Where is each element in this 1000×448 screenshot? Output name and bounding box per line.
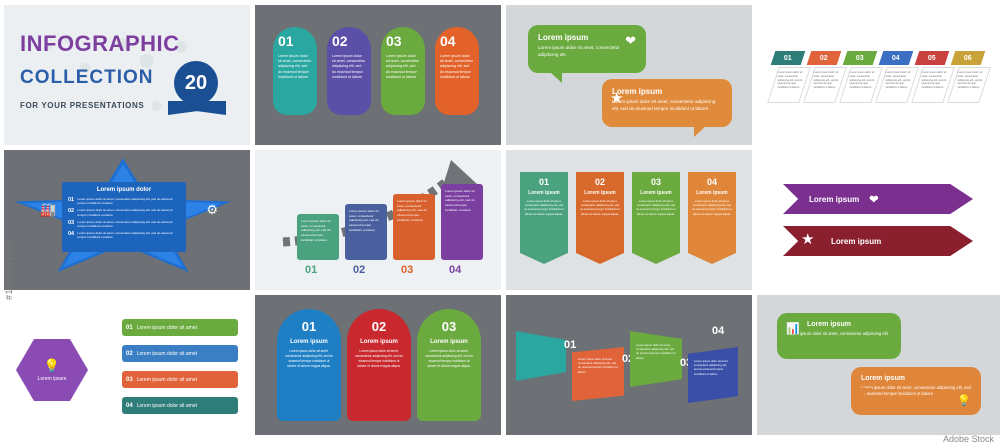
panel-tall-pills[interactable]: 01 Lorem ipsum Lorem ipsum dolor sit ame… [255,295,501,435]
zigzag-step-1[interactable] [516,331,566,381]
panel-ribbons[interactable]: Lorem ipsum ❤ Lorem ipsum ★ [757,150,1000,290]
adobe-stock-label: Adobe Stock [943,434,994,444]
panel-banners[interactable]: 01 Lorem ipsum Lorem ipsum dolor sit ame… [506,150,752,290]
pill-text: Lorem ipsum dolor sit amet, consectetur … [332,54,366,80]
factory-icon: 🏭 [40,202,56,218]
panel-zigzag[interactable]: 01 Lorem ipsum dolor sit amet, consectet… [506,295,752,435]
arrow-number-1: 01 [305,264,317,276]
panel-pills[interactable]: 01 Lorem ipsum dolor sit amet, consectet… [255,5,501,145]
tag-text: Lorem ipsum dolor sit amet, consectetur … [884,68,914,93]
hex-bar-label: Lorem ipsum dolor sit amet [137,403,197,409]
star-list-box: Lorem ipsum dolor 01Lorem ipsum dolor si… [62,182,186,252]
hexagon-label: Lorem ipsum [38,376,67,382]
hex-bar-number: 02 [126,351,133,357]
star-row-text: Lorem ipsum dolor sit amet, consectetur … [77,231,180,239]
cover-subtitle: COLLECTION [20,67,154,89]
zigzag-number-4: 04 [712,325,724,337]
tag-text: Lorem ipsum dolor sit amet, consectetur … [956,68,986,93]
bubble-tail [550,72,562,83]
hex-bar-label: Lorem ipsum dolor sit amet [137,351,197,357]
hex-bar-2[interactable]: 02Lorem ipsum dolor sit amet [122,345,238,362]
zigzag-text: Lorem ipsum dolor sit amet, consectetur … [630,331,682,372]
arrow-card-text: Lorem ipsum dolor sit amet, consectetur … [301,219,331,242]
cover-count-badge: 20 [174,61,218,105]
star-row-text: Lorem ipsum dolor sit amet, consectetur … [77,208,180,216]
star-row-text: Lorem ipsum dolor sit amet, consectetur … [77,197,180,205]
tag-number: 02 [820,55,828,62]
hexagon-shape[interactable]: 💡 Lorem ipsum [16,339,88,401]
cover-title: INFOGRAPHIC [20,31,180,57]
star-title: Lorem ipsum dolor [68,187,180,193]
arrow-card-text: Lorem ipsum dolor sit amet, consectetur … [445,189,475,212]
zigzag-step-4[interactable]: Lorem ipsum dolor sit amet, consectetur … [688,347,738,403]
panel-arrow[interactable]: Lorem ipsum dolor sit amet, consectetur … [255,150,501,290]
pill-number: 01 [278,33,312,49]
tag-text: Lorem ipsum dolor sit amet, consectetur … [848,68,878,93]
bubble-title: Lorem ipsum [612,87,722,96]
tag-header-4[interactable]: 04 [879,51,914,65]
zigzag-step-2[interactable]: Lorem ipsum dolor sit amet, consectetur … [572,347,624,401]
pill-text: Lorem ipsum dolor sit amet, consectetur … [386,54,420,80]
star-row-number: 01 [68,197,77,203]
tall-card-title: Lorem ipsum [284,339,334,345]
banner-item-4[interactable]: 04 Lorem ipsum Lorem ipsum dolor sit ame… [688,172,736,264]
heart-icon: ❤ [625,33,636,49]
tall-card-number: 01 [284,319,334,334]
hex-bar-number: 03 [126,377,133,383]
tag-text: Lorem ipsum dolor sit amet, consectetur … [920,68,950,93]
star-row-number: 02 [68,208,77,214]
star-row-number: 03 [68,220,77,226]
pill-item-2[interactable]: 02 Lorem ipsum dolor sit amet, consectet… [327,27,371,115]
zigzag-text: Lorem ipsum dolor sit amet, consectetur … [572,347,624,384]
panel-bubbles[interactable]: Lorem ipsum Lorem ipsum dolor sit amet, … [506,5,752,145]
arrow-card-1[interactable]: Lorem ipsum dolor sit amet, consectetur … [297,214,339,260]
ribbon-item-1[interactable]: Lorem ipsum ❤ [783,184,973,214]
bubble-title: Lorem ipsum [538,33,636,42]
banner-number: 01 [524,177,564,187]
bubble2-item-1[interactable]: 📊 Lorem ipsum Lorem ipsum dolor sit amet… [777,313,901,359]
panel-tags[interactable]: 01 Lorem ipsum dolor sit amet, consectet… [757,5,1000,145]
tag-text: Lorem ipsum dolor sit amet, consectetur … [776,68,806,93]
arrow-card-text: Lorem ipsum dolor sit amet, consectetur … [349,209,379,232]
arrow-number-4: 04 [449,264,461,276]
zigzag-step-3[interactable]: Lorem ipsum dolor sit amet, consectetur … [630,331,682,387]
lightbulb-icon: 💡 [44,358,60,374]
star-row[interactable]: 04Lorem ipsum dolor sit amet, consectetu… [68,231,180,239]
panel-cover[interactable]: INFOGRAPHIC COLLECTION FOR YOUR PRESENTA… [4,5,250,145]
arrow-card-3[interactable]: Lorem ipsum dolor sit amet, consectetur … [393,194,435,260]
tag-header-1[interactable]: 01 [771,51,806,65]
star-row-text: Lorem ipsum dolor sit amet, consectetur … [77,220,180,228]
bubble2-text: Lorem ipsum dolor sit amet, consectetur … [787,331,891,337]
tall-card-3[interactable]: 03 Lorem ipsum Lorem ipsum dolor sit ame… [417,309,481,421]
pill-item-1[interactable]: 01 Lorem ipsum dolor sit amet, consectet… [273,27,317,115]
hex-bar-3[interactable]: 03Lorem ipsum dolor sit amet [122,371,238,388]
banner-title: Lorem ipsum [636,190,676,196]
arrow-card-2[interactable]: Lorem ipsum dolor sit amet, consectetur … [345,204,387,260]
heart-icon: ❤ [869,193,878,206]
banner-item-1[interactable]: 01 Lorem ipsum Lorem ipsum dolor sit ame… [520,172,568,264]
zigzag-text: Lorem ipsum dolor sit amet, consectetur … [688,347,738,388]
tag-number: 03 [856,55,864,62]
lightbulb-icon: 💡 [957,394,971,407]
arrow-number-2: 02 [353,264,365,276]
watermark-id: #1109053596 [4,240,14,300]
banner-title: Lorem ipsum [692,190,732,196]
bubble2-title: Lorem ipsum [787,321,891,328]
pill-item-3[interactable]: 03 Lorem ipsum dolor sit amet, consectet… [381,27,425,115]
hex-bar-label: Lorem ipsum dolor sit amet [137,377,197,383]
pill-number: 04 [440,33,474,49]
bubble-item-2[interactable]: Lorem ipsum Lorem ipsum dolor sit amet, … [602,79,732,127]
bubble2-title: Lorem ipsum [861,375,971,382]
tag-header-5[interactable]: 05 [915,51,950,65]
zigzag-number-1: 01 [564,339,576,351]
cover-tagline: FOR YOUR PRESENTATIONS [20,101,144,110]
star-row-number: 04 [68,231,77,237]
tag-number: 06 [964,55,972,62]
banner-item-3[interactable]: 03 Lorem ipsum Lorem ipsum dolor sit ame… [632,172,680,264]
bubble-text: Lorem ipsum dolor sit amet, consectetur … [612,99,722,113]
banner-title: Lorem ipsum [524,190,564,196]
tall-card-number: 03 [424,319,474,334]
gear-icon: ⚙ [206,202,218,218]
tall-card-text: Lorem ipsum dolor sit amet, consectetur … [424,349,474,369]
tag-header-2[interactable]: 02 [807,51,842,65]
arrow-card-4[interactable]: Lorem ipsum dolor sit amet, consectetur … [441,184,483,260]
hex-bar-number: 04 [126,403,133,409]
pill-item-4[interactable]: 04 Lorem ipsum dolor sit amet, consectet… [435,27,479,115]
panel-star[interactable]: 🏭 ⚙ Lorem ipsum dolor 01Lorem ipsum dolo… [4,150,250,290]
star-row[interactable]: 03Lorem ipsum dolor sit amet, consectetu… [68,220,180,228]
arrow-number-3: 03 [401,264,413,276]
tall-card-text: Lorem ipsum dolor sit amet, consectetur … [354,349,404,369]
banner-number: 03 [636,177,676,187]
star-row[interactable]: 02Lorem ipsum dolor sit amet, consectetu… [68,208,180,216]
tall-card-title: Lorem ipsum [424,339,474,345]
bubble-text: Lorem ipsum dolor sit amet, consectetur … [538,45,636,59]
pill-text: Lorem ipsum dolor sit amet, consectetur … [440,54,474,80]
bubble-item-1[interactable]: Lorem ipsum Lorem ipsum dolor sit amet, … [528,25,646,73]
tag-number: 05 [928,55,936,62]
star-row[interactable]: 01Lorem ipsum dolor sit amet, consectetu… [68,197,180,205]
tall-card-2[interactable]: 02 Lorem ipsum Lorem ipsum dolor sit ame… [347,309,411,421]
arrow-card-text: Lorem ipsum dolor sit amet, consectetur … [397,199,427,222]
banner-text: Lorem ipsum dolor sit amet, consectetur … [524,199,564,216]
pill-number: 03 [386,33,420,49]
tall-card-title: Lorem ipsum [354,339,404,345]
banner-text: Lorem ipsum dolor sit amet, consectetur … [692,199,732,216]
banner-text: Lorem ipsum dolor sit amet, consectetur … [580,199,620,216]
banner-title: Lorem ipsum [580,190,620,196]
tag-header-6[interactable]: 06 [951,51,986,65]
bubble-tail [861,388,872,415]
tag-body-6: Lorem ipsum dolor sit amet, consectetur … [947,67,991,103]
hex-bar-number: 01 [126,325,133,331]
star-icon: ★ [610,89,623,107]
tag-number: 01 [784,55,792,62]
bubble2-text: Lorem ipsum dolor sit amet, consectetur … [861,385,971,398]
banner-number: 02 [580,177,620,187]
bubble-tail [694,126,706,137]
panel-hexagon[interactable]: 💡 Lorem ipsum 01Lorem ipsum dolor sit am… [4,295,250,435]
tag-header-3[interactable]: 03 [843,51,878,65]
banner-text: Lorem ipsum dolor sit amet, consectetur … [636,199,676,216]
tall-card-number: 02 [354,319,404,334]
hex-bar-label: Lorem ipsum dolor sit amet [137,325,197,331]
ribbon-title: Lorem ipsum [809,195,859,204]
tag-number: 04 [892,55,900,62]
pill-text: Lorem ipsum dolor sit amet, consectetur … [278,54,312,80]
banner-number: 04 [692,177,732,187]
star-icon: ★ [801,230,814,248]
hex-bar-4[interactable]: 04Lorem ipsum dolor sit amet [122,397,238,414]
infographic-collection-grid: INFOGRAPHIC COLLECTION FOR YOUR PRESENTA… [0,0,1000,440]
tall-card-1[interactable]: 01 Lorem ipsum Lorem ipsum dolor sit ame… [277,309,341,421]
ribbon-title: Lorem ipsum [831,237,881,246]
banner-item-2[interactable]: 02 Lorem ipsum Lorem ipsum dolor sit ame… [576,172,624,264]
panel-bubbles-2[interactable]: 📊 Lorem ipsum Lorem ipsum dolor sit amet… [757,295,1000,435]
tall-card-text: Lorem ipsum dolor sit amet, consectetur … [284,349,334,369]
pill-number: 02 [332,33,366,49]
hex-bar-1[interactable]: 01Lorem ipsum dolor sit amet [122,319,238,336]
bubble2-item-2[interactable]: Lorem ipsum Lorem ipsum dolor sit amet, … [851,367,981,415]
chart-icon: 📊 [786,322,800,335]
tag-text: Lorem ipsum dolor sit amet, consectetur … [812,68,842,93]
